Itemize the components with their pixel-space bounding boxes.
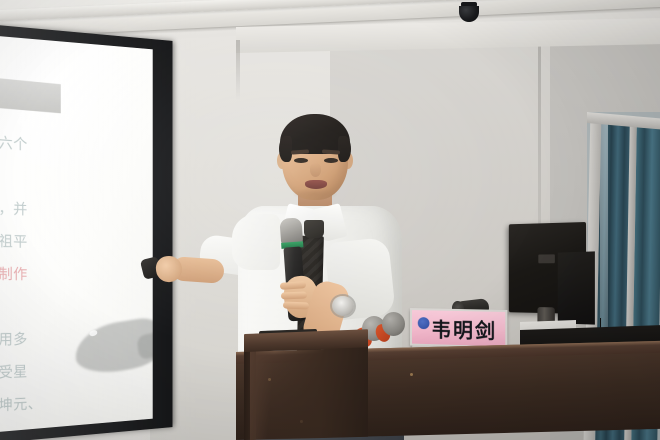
projection-screen: 件回顾 区道路划分为六个 务外包。 定合作此项目，并 投标一事。范祖平 杨丽娟随… [0, 24, 172, 440]
soffit-edge [236, 40, 240, 100]
slide-line: 区道路划分为六个 [0, 120, 139, 168]
necktie-knot [304, 220, 324, 238]
name-plate-body: 韦明剑 [410, 308, 507, 349]
finger [283, 302, 309, 310]
chin-shadow [292, 188, 338, 200]
finger [281, 292, 307, 300]
slide-line: 佳、 [0, 291, 139, 325]
screen-frame: 件回顾 区道路划分为六个 务外包。 定合作此项目，并 投标一事。范祖平 杨丽娟随… [0, 24, 172, 440]
slide-content: 件回顾 区道路划分为六个 务外包。 定合作此项目，并 投标一事。范祖平 杨丽娟随… [0, 35, 153, 433]
slide-body: 区道路划分为六个 务外包。 定合作此项目，并 投标一事。范祖平 杨丽娟随后在制作… [0, 120, 139, 427]
eye-right [324, 158, 338, 163]
nose [310, 163, 321, 177]
secondary-monitor [558, 251, 595, 324]
hair-side-right [338, 136, 351, 162]
desk-microphone-2 [376, 312, 406, 346]
slide-line: 、谷明佳、余坤元、 [0, 383, 139, 427]
photo-scene: 件回顾 区道路划分为六个 务外包。 定合作此项目，并 投标一事。范祖平 杨丽娟随… [0, 0, 660, 440]
slide-line: 投标一事。范祖平 [0, 223, 139, 261]
monitor-logo [538, 254, 555, 263]
eye-left [294, 158, 308, 163]
lectern-body [250, 345, 368, 440]
name-plate-text: 韦明剑 [431, 314, 507, 346]
security-camera-icon [459, 2, 479, 24]
left-shoulder [232, 214, 280, 270]
camera-dome [459, 6, 479, 22]
slide-title: 件回顾 [0, 72, 64, 114]
slide-line-accent: 杨丽娟随后在制作 [0, 257, 139, 291]
hair-side-left [279, 136, 292, 162]
screen-surface: 件回顾 区道路划分为六个 务外包。 定合作此项目，并 投标一事。范祖平 杨丽娟随… [0, 35, 153, 433]
desk-mic-head-2 [382, 312, 405, 336]
desk-stud [410, 373, 413, 376]
organization-emblem-icon [418, 317, 430, 329]
